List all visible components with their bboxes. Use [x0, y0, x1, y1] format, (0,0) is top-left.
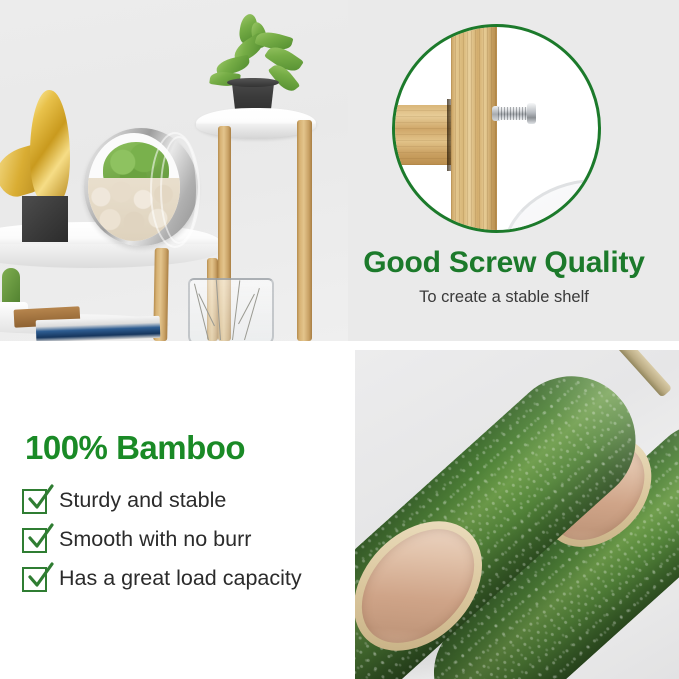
feature-label: Sturdy and stable — [59, 490, 226, 512]
checkbox-checked-icon — [22, 528, 47, 553]
bamboo-rail — [392, 105, 455, 165]
stand-leg — [297, 120, 312, 341]
features-title: 100% Bamboo — [25, 429, 245, 467]
screw-callout-title: Good Screw Quality — [344, 246, 664, 280]
terrarium-band — [160, 136, 198, 244]
screw-head — [527, 103, 536, 124]
glass-vase — [188, 278, 274, 341]
feature-item: Has a great load capacity — [22, 561, 352, 597]
middle-shelf-edge — [0, 244, 220, 268]
checkbox-checked-icon — [22, 567, 47, 592]
feature-item: Smooth with no burr — [22, 522, 352, 558]
feature-label: Smooth with no burr — [59, 529, 251, 551]
features-list: Sturdy and stable Smooth with no burr Ha… — [22, 483, 352, 600]
plant-pot-rim — [227, 78, 279, 87]
feature-item: Sturdy and stable — [22, 483, 352, 519]
bamboo-node — [610, 350, 673, 398]
top-panel: Good Screw Quality To create a stable sh… — [0, 0, 679, 341]
product-photo — [0, 0, 348, 341]
checkbox-checked-icon — [22, 489, 47, 514]
gold-sculpture-base — [22, 196, 68, 242]
feature-label: Has a great load capacity — [59, 568, 302, 590]
gold-sculpture-head — [30, 90, 70, 202]
twig — [216, 278, 221, 340]
twig — [232, 280, 240, 340]
screw-callout-subtitle: To create a stable shelf — [344, 288, 664, 307]
magazine — [36, 316, 161, 341]
bamboo-post — [451, 24, 497, 233]
white-shelf-edge — [494, 172, 601, 233]
bamboo-photo — [355, 350, 679, 679]
infographic-canvas: Good Screw Quality To create a stable sh… — [0, 0, 679, 679]
screw-detail-circle — [392, 24, 601, 233]
